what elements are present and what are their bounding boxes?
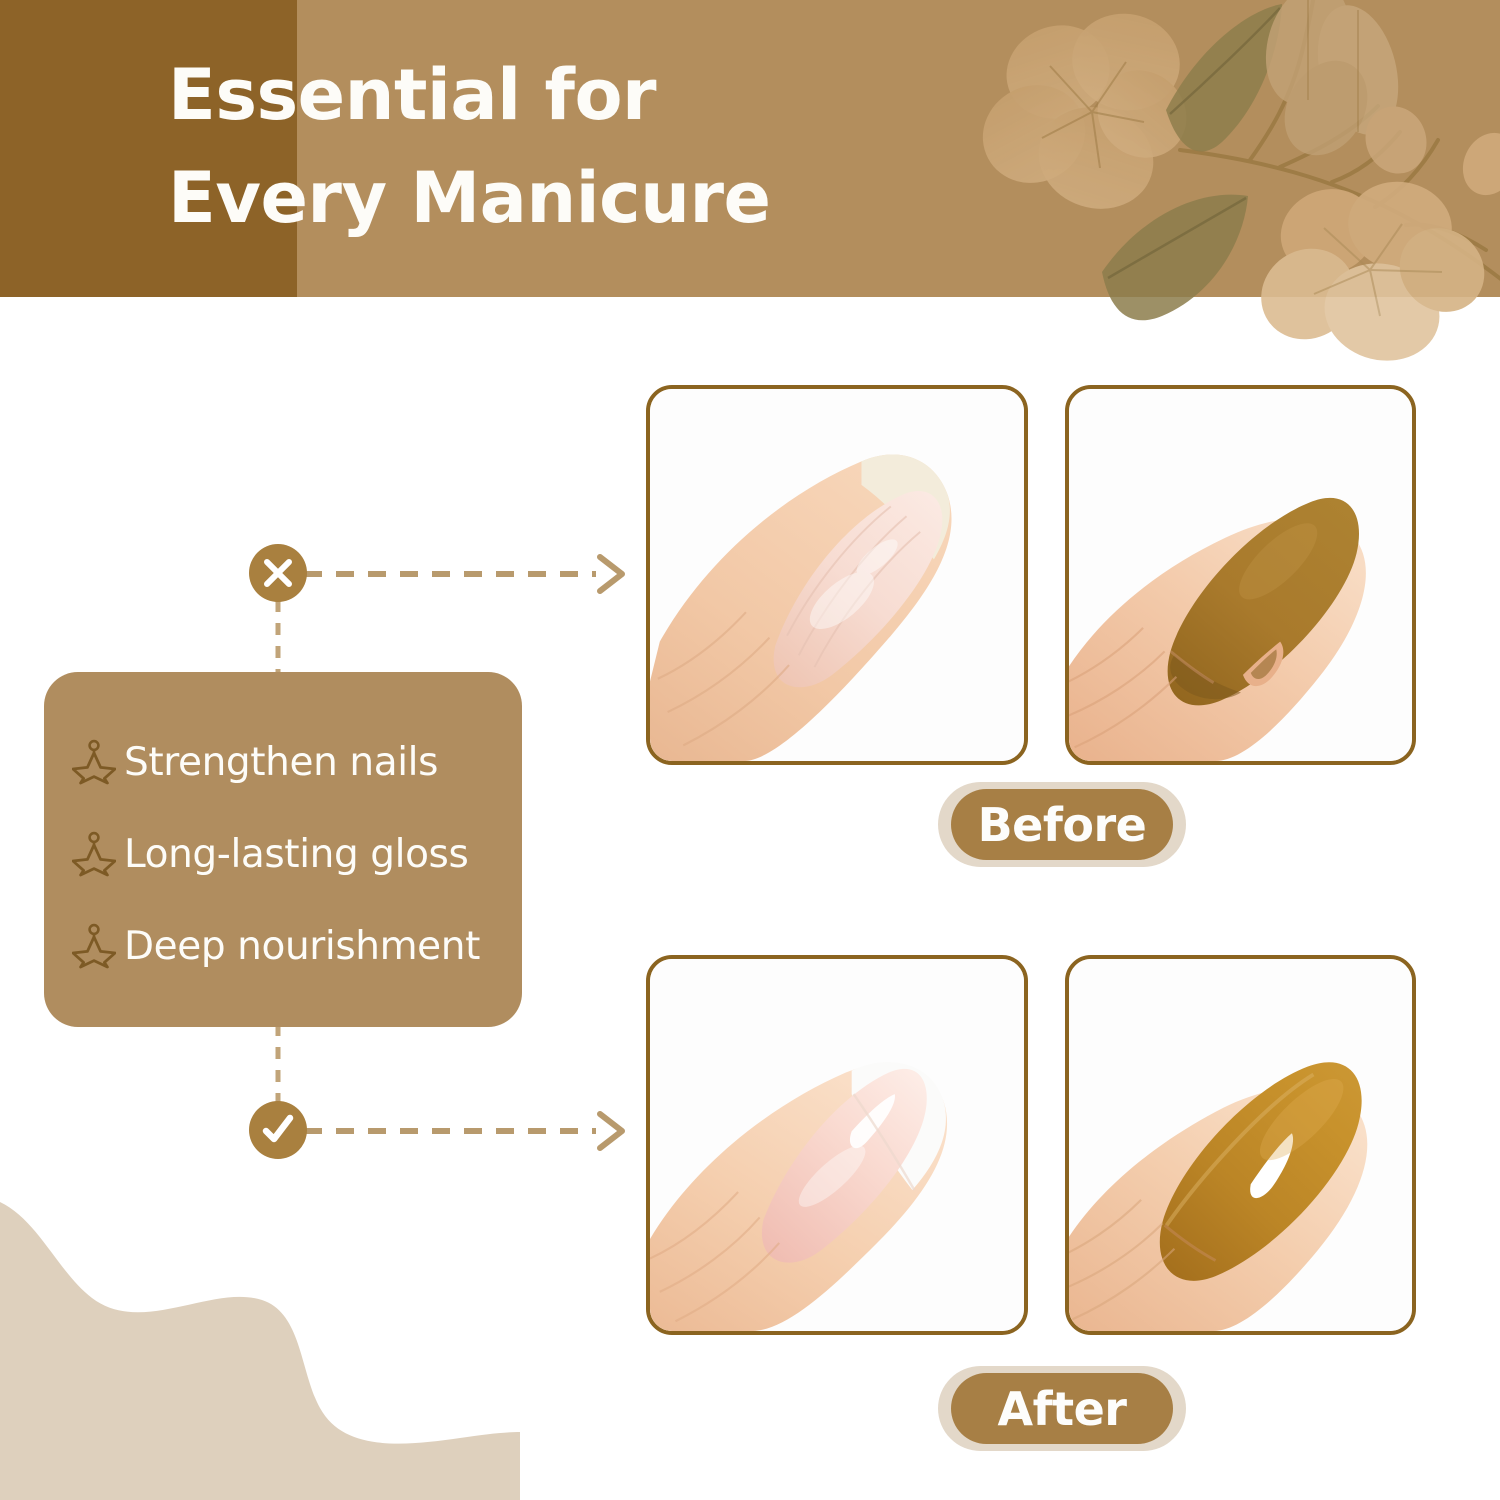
after-badge: After xyxy=(938,1366,1186,1451)
star-charm-icon xyxy=(70,830,118,878)
star-charm-icon xyxy=(70,922,118,970)
connector-line-bottom xyxy=(260,1024,296,1106)
benefit-label: Strengthen nails xyxy=(124,740,438,785)
benefit-item: Deep nourishment xyxy=(44,900,522,992)
after-photo-french-manicure xyxy=(646,955,1028,1335)
after-badge-pill: After xyxy=(951,1373,1173,1444)
arrow-to-before-photos xyxy=(300,553,640,595)
promo-graphic: Essential for Every Manicure xyxy=(0,0,1500,1500)
after-photo-glossy-caramel-nail xyxy=(1065,955,1416,1335)
header-banner: Essential for Every Manicure xyxy=(0,0,1500,297)
page-title: Essential for Every Manicure xyxy=(168,44,1068,250)
before-photo-natural-nail xyxy=(646,385,1028,765)
check-icon xyxy=(260,1112,296,1148)
before-badge: Before xyxy=(938,782,1186,867)
corner-wave-decoration xyxy=(0,1180,520,1500)
cross-icon xyxy=(261,556,295,590)
before-badge-label: Before xyxy=(978,802,1147,848)
before-photo-chipped-polish xyxy=(1065,385,1416,765)
benefit-label: Deep nourishment xyxy=(124,924,480,969)
negative-marker xyxy=(249,544,307,602)
benefit-label: Long-lasting gloss xyxy=(124,832,468,877)
benefit-item: Strengthen nails xyxy=(44,716,522,808)
benefits-card: Strengthen nails Long-lasting gloss xyxy=(44,672,522,1027)
positive-marker xyxy=(249,1101,307,1159)
after-badge-label: After xyxy=(998,1386,1127,1432)
star-charm-icon xyxy=(70,738,118,786)
connector-line-top xyxy=(260,600,296,678)
arrow-to-after-photos xyxy=(300,1110,640,1152)
before-badge-pill: Before xyxy=(951,789,1173,860)
benefit-item: Long-lasting gloss xyxy=(44,808,522,900)
